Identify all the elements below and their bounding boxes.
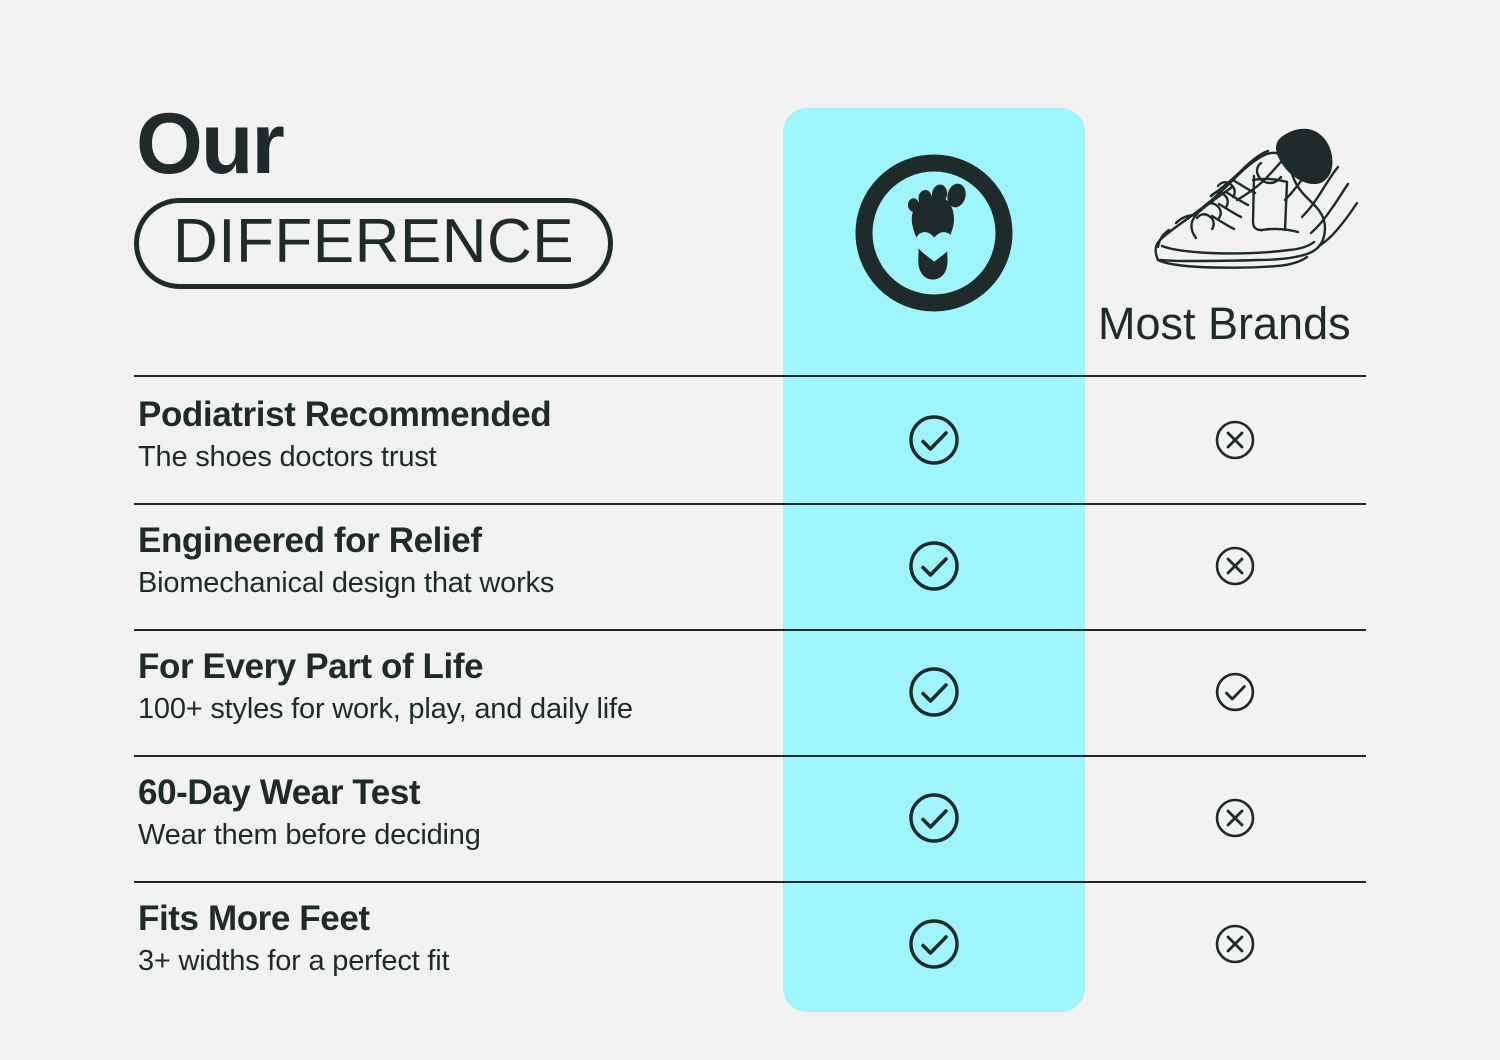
feature-subtitle: The shoes doctors trust — [138, 440, 758, 475]
table-row: Podiatrist RecommendedThe shoes doctors … — [0, 377, 1500, 503]
feature-subtitle: 100+ styles for work, play, and daily li… — [138, 692, 758, 727]
table-row: Fits More Feet3+ widths for a perfect fi… — [0, 881, 1500, 1007]
brands-mark-cross-icon — [1214, 419, 1256, 461]
ours-mark-check-icon — [907, 791, 961, 845]
table-row: Engineered for ReliefBiomechanical desig… — [0, 503, 1500, 629]
comparison-table: Podiatrist RecommendedThe shoes doctors … — [0, 0, 1500, 1060]
table-row: For Every Part of Life100+ styles for wo… — [0, 629, 1500, 755]
brands-mark-cross-icon — [1214, 923, 1256, 965]
brands-mark-cross-icon — [1214, 797, 1256, 839]
feature-title: For Every Part of Life — [138, 647, 758, 686]
ours-mark-check-icon — [907, 665, 961, 719]
feature-cell: For Every Part of Life100+ styles for wo… — [138, 647, 758, 727]
feature-title: 60-Day Wear Test — [138, 773, 758, 812]
table-row: 60-Day Wear TestWear them before decidin… — [0, 755, 1500, 881]
brands-mark-cross-icon — [1214, 545, 1256, 587]
ours-mark-check-icon — [907, 539, 961, 593]
feature-cell: 60-Day Wear TestWear them before decidin… — [138, 773, 758, 853]
feature-cell: Engineered for ReliefBiomechanical desig… — [138, 521, 758, 601]
feature-cell: Podiatrist RecommendedThe shoes doctors … — [138, 395, 758, 475]
feature-title: Podiatrist Recommended — [138, 395, 758, 434]
feature-title: Engineered for Relief — [138, 521, 758, 560]
feature-subtitle: 3+ widths for a perfect fit — [138, 944, 758, 979]
ours-mark-check-icon — [907, 413, 961, 467]
feature-subtitle: Wear them before deciding — [138, 818, 758, 853]
feature-subtitle: Biomechanical design that works — [138, 566, 758, 601]
ours-mark-check-icon — [907, 917, 961, 971]
feature-cell: Fits More Feet3+ widths for a perfect fi… — [138, 899, 758, 979]
brands-mark-check-icon — [1214, 671, 1256, 713]
feature-title: Fits More Feet — [138, 899, 758, 938]
comparison-chart: Our DIFFERENCE — [0, 0, 1500, 1060]
